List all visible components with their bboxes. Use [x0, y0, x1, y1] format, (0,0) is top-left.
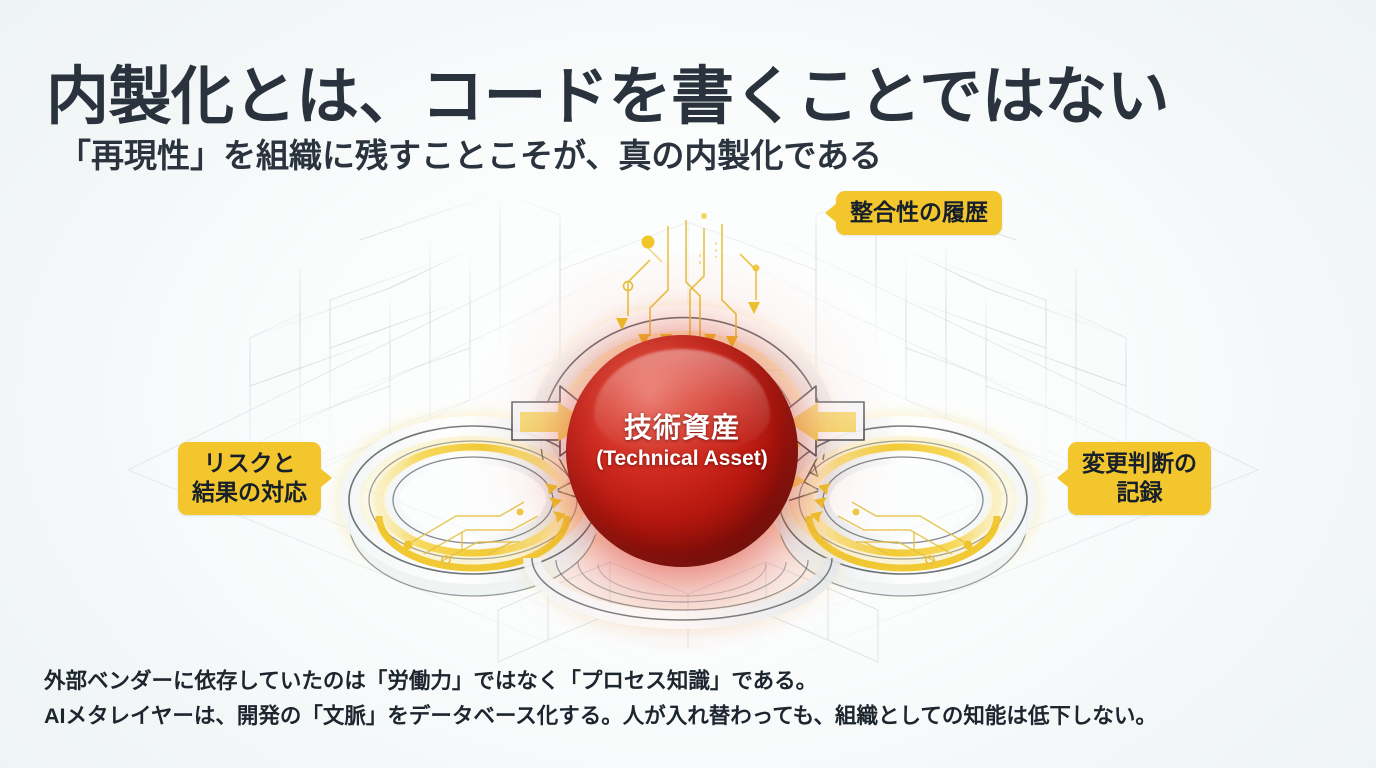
slide-root: 内製化とは、コードを書くことではない 「再現性」を組織に残すことこそが、真の内製…	[0, 0, 1376, 768]
callout-tail-icon	[1057, 468, 1069, 488]
callout-top-line1: 整合性の履歴	[850, 198, 988, 227]
callout-left-line2: 結果の対応	[192, 478, 307, 507]
caption-line-2: AIメタレイヤーは、開発の「文脈」をデータベース化する。人が入れ替わっても、組織…	[44, 699, 1157, 734]
callout-right-line1: 変更判断の	[1082, 449, 1197, 478]
sphere-rim-light	[566, 335, 798, 567]
callout-risk-outcome[interactable]: リスクと 結果の対応	[178, 442, 321, 515]
callout-right-line2: 記録	[1082, 478, 1197, 507]
circuit-nodes-top	[624, 213, 760, 291]
callout-tail-icon	[320, 468, 332, 488]
diagram-stage: 技術資産 (Technical Asset)	[0, 150, 1376, 650]
caption-line-1: 外部ベンダーに依存していたのは「労働力」ではなく「プロセス知識」である。	[44, 664, 1157, 699]
callout-integrity-history[interactable]: 整合性の履歴	[836, 191, 1002, 235]
technical-asset-core: 技術資産 (Technical Asset)	[566, 335, 798, 567]
page-title: 内製化とは、コードを書くことではない	[46, 64, 1169, 131]
callout-tail-icon	[825, 203, 837, 223]
callout-left-line1: リスクと	[192, 449, 307, 478]
callout-change-decision-record[interactable]: 変更判断の 記録	[1068, 442, 1211, 515]
footer-caption: 外部ベンダーに依存していたのは「労働力」ではなく「プロセス知識」である。 AIメ…	[44, 664, 1157, 734]
